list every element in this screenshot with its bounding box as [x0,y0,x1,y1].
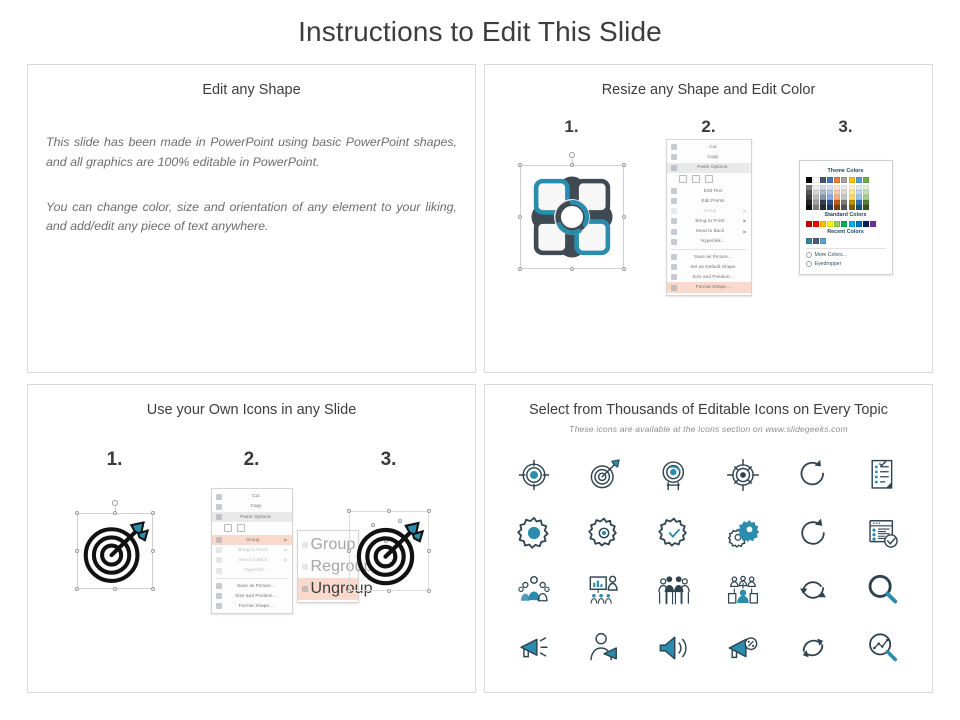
color-swatch[interactable] [856,205,862,210]
menu-item-label: Send to Back [680,229,741,234]
paste-options-row[interactable] [212,522,292,535]
panel-title-edit-shape: Edit any Shape [28,82,475,99]
dart-target-graphic-ungrouped [354,516,424,586]
theme-colors-row[interactable] [806,177,886,183]
menu-item-icon [216,547,222,553]
menu-separator [216,578,288,579]
megaphone-icon[interactable] [511,625,557,671]
menu-item-hyperlink[interactable]: Hyperlink... [212,566,292,576]
panel-edit-any-shape: Edit any Shape This slide has been made … [27,64,476,373]
paste-option-icon[interactable] [705,175,713,183]
color-swatch[interactable] [827,205,833,210]
own-icons-step-2: 2. CutCopyPaste Options:Group▶Bring to F… [183,449,320,621]
menu-item-icon [671,274,677,280]
color-swatch[interactable] [806,221,812,227]
menu-item-icon [302,564,308,570]
more-colors-button[interactable]: More Colors... [806,251,886,260]
megaphone-percent-icon[interactable] [720,625,766,671]
refresh-clockwise-icon[interactable] [790,452,836,498]
context-menu-screenshot[interactable]: CutCopyPaste Options:Edit TextEdit Point… [640,147,777,287]
menu-item-set-as-default-shape[interactable]: Set as Default Shape [667,262,751,272]
menu-item-label: Size and Position... [680,275,747,280]
menu-item-icon [216,593,222,599]
slide-canvas: Instructions to Edit This Slide Edit any… [0,0,960,720]
menu-item-group[interactable]: Group▶ [667,206,751,216]
menu-item-icon [671,154,677,160]
theme-shade-column[interactable] [863,185,869,210]
chevron-right-icon: ▶ [284,538,287,542]
menu-item-label: Cut [225,494,288,499]
resize-step-3: 3. Theme ColorsStandard ColorsRecent Col… [777,117,914,287]
color-swatch[interactable] [806,205,812,210]
panel-grid: Edit any Shape This slide has been made … [27,64,933,693]
gear-filled-icon[interactable] [511,510,557,556]
color-swatch[interactable] [834,177,840,183]
menu-item-label: Format Shape... [680,285,747,290]
editable-shape-graphic [526,171,618,263]
menu-item-icon [216,557,222,563]
powerpoint-context-menu-group[interactable]: CutCopyPaste Options:Group▶Bring to Fron… [211,488,293,614]
menu-item-hyperlink[interactable]: Hyperlink... [667,237,751,247]
gears-pair-icon[interactable] [720,510,766,556]
own-icons-step-3-number: 3. [320,449,457,471]
panel-title-own-icons: Use your Own Icons in any Slide [28,402,475,419]
color-swatch[interactable] [827,177,833,183]
theme-shade-column[interactable] [806,185,812,210]
chevron-right-icon: ▶ [743,230,746,234]
chevron-right-icon: ▶ [284,548,287,552]
menu-item-label: Paste Options: [225,515,288,520]
own-icons-step-1: 1. [46,449,183,621]
menu-item-icon [671,239,677,245]
panel-icon-library: Select from Thousands of Editable Icons … [484,384,933,693]
edit-shape-paragraph-2: You can change color, size and orientati… [46,198,457,236]
menu-separator [671,249,747,250]
team-network-icon[interactable] [720,567,766,613]
panel-title-icon-library: Select from Thousands of Editable Icons … [485,402,932,419]
color-swatch[interactable] [849,221,855,227]
menu-item-label: Group [680,209,741,214]
menu-item-icon [216,568,222,574]
menu-item-icon [216,504,222,510]
menu-item-label: Copy [225,504,288,509]
eyedropper-button-label: Eyedropper [815,261,842,267]
menu-item-bring-to-front[interactable]: Bring to Front▶ [212,545,292,555]
palette-icon [806,252,812,258]
color-swatch[interactable] [849,177,855,183]
recent-colors-row[interactable] [806,238,886,244]
menu-item-icon [671,264,677,270]
menu-item-label: Format Shape... [225,604,288,609]
checklist-verified-icon[interactable] [860,510,906,556]
paste-options-row[interactable] [667,173,751,186]
target-crosshair-icon[interactable] [511,452,557,498]
powerpoint-context-menu[interactable]: CutCopyPaste Options:Edit TextEdit Point… [666,139,752,295]
color-swatch[interactable] [806,238,812,244]
recent-colors-heading: Recent Colors [806,229,886,235]
menu-item-cut[interactable]: Cut [212,491,292,501]
magnifier-icon[interactable] [860,567,906,613]
color-swatch[interactable] [834,221,840,227]
menu-item-format-shape[interactable]: Format Shape... [667,282,751,292]
menu-item-icon [671,198,677,204]
panel-resize-shape-edit-color: Resize any Shape and Edit Color 1. [484,64,933,373]
panel-title-resize-shape: Resize any Shape and Edit Color [485,82,932,99]
paste-option-icon[interactable] [679,175,687,183]
menu-item-size-and-position[interactable]: Size and Position... [667,272,751,282]
resize-step-1-number: 1. [503,117,640,137]
color-swatch[interactable] [856,177,862,183]
menu-item-icon [671,165,677,171]
menu-item-label: Cut [680,145,747,150]
chevron-right-icon: ▶ [284,558,287,562]
edit-shape-paragraph-1: This slide has been made in PowerPoint u… [46,133,457,171]
analytics-search-icon[interactable] [860,625,906,671]
menu-item-label: Size and Position... [225,594,288,599]
color-picker-separator [806,248,886,249]
paste-option-icon[interactable] [237,524,245,532]
sync-arrows-icon[interactable] [790,567,836,613]
color-swatch[interactable] [820,205,826,210]
color-swatch[interactable] [813,177,819,183]
menu-item-label: Copy [680,155,747,160]
resize-step-3-number: 3. [777,117,914,137]
color-picker-panel[interactable]: Theme ColorsStandard ColorsRecent Colors… [799,160,893,275]
paste-option-icon[interactable] [692,175,700,183]
color-swatch[interactable] [820,177,826,183]
menu-item-icon [216,494,222,500]
dart-target-selected[interactable] [46,481,183,621]
color-swatch[interactable] [813,221,819,227]
menu-item-send-to-back[interactable]: Send to Back▶ [212,555,292,565]
color-swatch[interactable] [813,238,819,244]
person-megaphone-icon[interactable] [581,625,627,671]
page-title: Instructions to Edit This Slide [0,16,960,48]
menu-item-label: Hyperlink... [680,239,747,244]
menu-item-icon [216,603,222,609]
menu-item-label: Save as Picture... [225,584,288,589]
theme-shade-column[interactable] [834,185,840,210]
refresh-cycle-icon[interactable] [790,625,836,671]
menu-item-icon [671,208,677,214]
menu-item-paste-options[interactable]: Paste Options: [667,163,751,173]
menu-item-label: Group [225,538,282,543]
own-icons-steps: 1. [28,449,475,621]
menu-item-size-and-position[interactable]: Size and Position... [212,591,292,601]
menu-item-edit-points[interactable]: Edit Points [667,196,751,206]
color-swatch[interactable] [820,238,826,244]
menu-item-save-as-picture[interactable]: Save as Picture... [212,581,292,591]
menu-item-paste-options[interactable]: Paste Options: [212,512,292,522]
checklist-document-icon[interactable] [860,452,906,498]
target-stand-icon[interactable] [651,452,697,498]
theme-shade-column[interactable] [827,185,833,210]
menu-item-label: Set as Default Shape [680,265,747,270]
menu-item-copy[interactable]: Copy [212,502,292,512]
color-swatch[interactable] [827,221,833,227]
menu-item-label: Bring to Front [680,219,741,224]
icon-grid [499,446,918,676]
eyedropper-icon [806,261,812,267]
people-crowd-icon[interactable] [651,567,697,613]
menu-item-icon [216,514,222,520]
color-swatch[interactable] [863,205,869,210]
color-swatch[interactable] [841,177,847,183]
dart-target-graphic [81,517,149,585]
menu-item-label: Paste Options: [680,165,747,170]
menu-item-format-shape[interactable]: Format Shape... [212,601,292,611]
gear-check-icon[interactable] [651,510,697,556]
color-picker-screenshot[interactable]: Theme ColorsStandard ColorsRecent Colors… [777,147,914,287]
dart-target-icon[interactable] [581,452,627,498]
icon-library-subtitle: These icons are available at the Icons s… [485,424,932,434]
more-colors-button-label: More Colors... [815,252,848,258]
color-swatch[interactable] [849,205,855,210]
paste-option-icon[interactable] [224,524,232,532]
team-group-icon[interactable] [511,567,557,613]
menu-item-icon [671,254,677,260]
menu-item-icon [671,229,677,235]
theme-shade-column[interactable] [820,185,826,210]
resize-step-2: 2. CutCopyPaste Options:Edit TextEdit Po… [640,117,777,287]
menu-item-label: Bring to Front [225,548,282,553]
gear-outline-icon[interactable] [581,510,627,556]
color-swatch[interactable] [856,221,862,227]
menu-item-label: Edit Points [680,199,747,204]
own-icons-step-1-number: 1. [46,449,183,471]
resize-step-1: 1. [503,117,640,287]
color-swatch[interactable] [834,205,840,210]
presentation-team-icon[interactable] [581,567,627,613]
chevron-right-icon: ▶ [743,219,746,223]
context-menu-group-screenshot[interactable]: CutCopyPaste Options:Group▶Bring to Fron… [183,481,320,621]
menu-item-icon [671,188,677,194]
menu-item-label: Save as Picture... [680,255,747,260]
crosshair-scope-icon[interactable] [720,452,766,498]
menu-item-icon [216,583,222,589]
menu-item-cut[interactable]: Cut [667,142,751,152]
menu-item-label: Edit Text [680,189,747,194]
menu-item-icon [671,285,677,291]
theme-shade-column[interactable] [856,185,862,210]
color-swatch[interactable] [813,205,819,210]
eyedropper-button[interactable]: Eyedropper [806,260,886,269]
theme-shade-column[interactable] [849,185,855,210]
standard-colors-heading: Standard Colors [806,212,886,218]
color-swatch[interactable] [820,221,826,227]
menu-item-icon [302,586,308,592]
color-swatch[interactable] [806,177,812,183]
menu-item-icon [671,144,677,150]
refresh-circle-icon[interactable] [790,510,836,556]
color-swatch[interactable] [863,177,869,183]
color-swatch[interactable] [841,205,847,210]
theme-colors-heading: Theme Colors [806,168,886,174]
color-swatch[interactable] [841,221,847,227]
color-swatch[interactable] [870,221,876,227]
panel-use-own-icons: Use your Own Icons in any Slide 1. [27,384,476,693]
menu-item-label: Hyperlink... [225,568,288,573]
theme-shade-column[interactable] [841,185,847,210]
chevron-right-icon: ▶ [743,209,746,213]
menu-item-icon [671,218,677,224]
standard-colors-row[interactable] [806,221,886,227]
own-icons-step-2-number: 2. [183,449,320,471]
shape-with-selection-handles[interactable] [503,147,640,287]
speaker-horn-icon[interactable] [651,625,697,671]
theme-colors-shade-grid[interactable] [806,185,886,210]
menu-item-save-as-picture[interactable]: Save as Picture... [667,252,751,262]
menu-item-label: Send to Back [225,558,282,563]
menu-item-copy[interactable]: Copy [667,152,751,162]
menu-item-edit-text[interactable]: Edit Text [667,186,751,196]
theme-shade-column[interactable] [813,185,819,210]
color-swatch[interactable] [863,221,869,227]
menu-item-icon [216,537,222,543]
menu-item-bring-to-front[interactable]: Bring to Front▶ [667,216,751,226]
resize-step-2-number: 2. [640,117,777,137]
menu-item-icon [302,542,308,548]
menu-item-group[interactable]: Group▶ [212,535,292,545]
menu-item-send-to-back[interactable]: Send to Back▶ [667,226,751,236]
resize-steps: 1. [485,117,932,287]
